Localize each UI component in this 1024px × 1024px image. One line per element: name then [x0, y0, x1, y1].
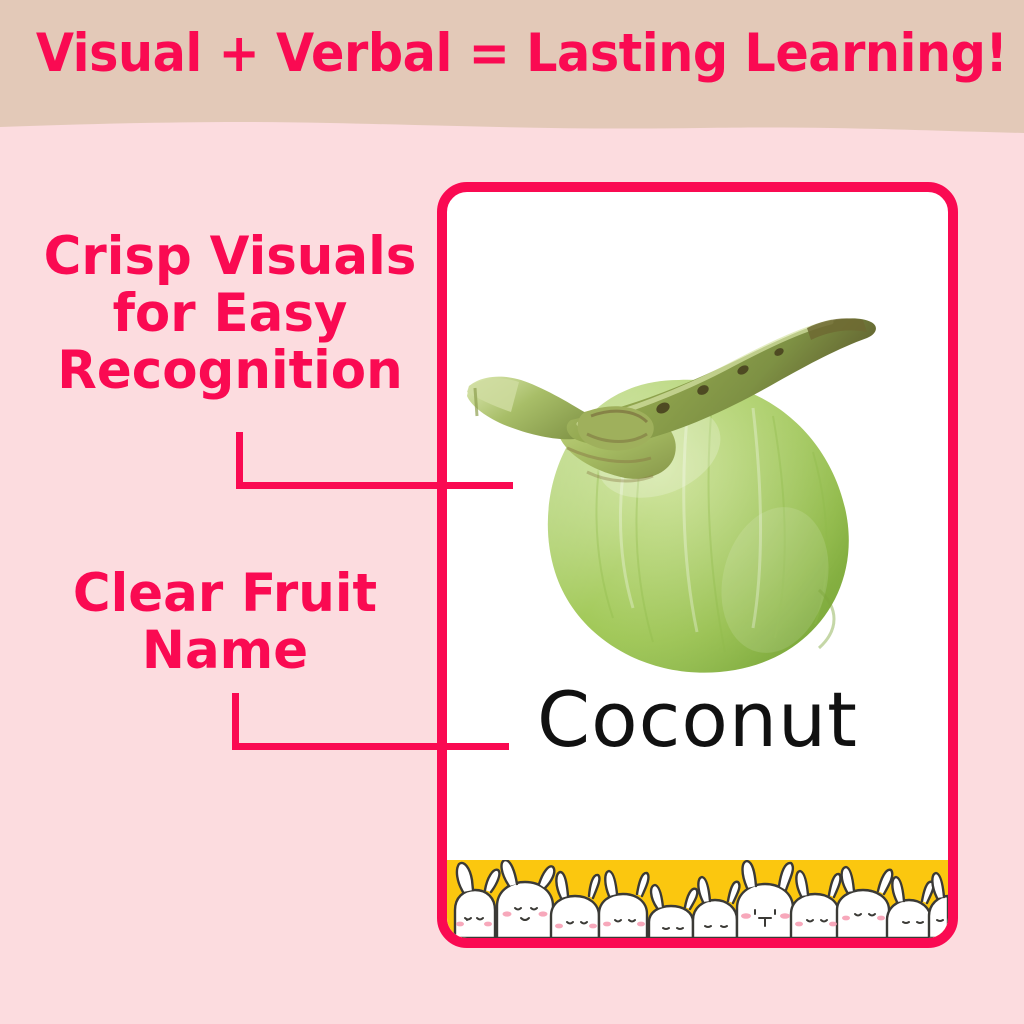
- leader-line-clear-fruit-name: [232, 693, 512, 755]
- page-title: Visual + Verbal = Lasting Learning!: [36, 26, 988, 82]
- promo-canvas: Visual + Verbal = Lasting Learning! Cris…: [0, 0, 1024, 1024]
- coconut-illustration: [467, 312, 887, 687]
- leader-line-horizontal-segment: [232, 743, 509, 750]
- flashcard[interactable]: Coconut: [437, 182, 958, 948]
- leader-line-crisp-visuals: [236, 432, 516, 494]
- flashcard-bunny-footer: [447, 860, 948, 938]
- leader-line-vertical-segment: [232, 693, 239, 749]
- flashcard-fruit-name: Coconut: [447, 682, 948, 758]
- annotation-crisp-visuals: Crisp Visuals for Easy Recognition: [26, 228, 433, 400]
- header-band: Visual + Verbal = Lasting Learning!: [0, 0, 1024, 140]
- flashcard-image-area: [447, 192, 948, 697]
- bunny-pattern: [447, 860, 948, 938]
- leader-line-horizontal-segment: [236, 482, 513, 489]
- annotation-clear-fruit-name: Clear Fruit Name: [26, 565, 424, 679]
- leader-line-vertical-segment: [236, 432, 243, 488]
